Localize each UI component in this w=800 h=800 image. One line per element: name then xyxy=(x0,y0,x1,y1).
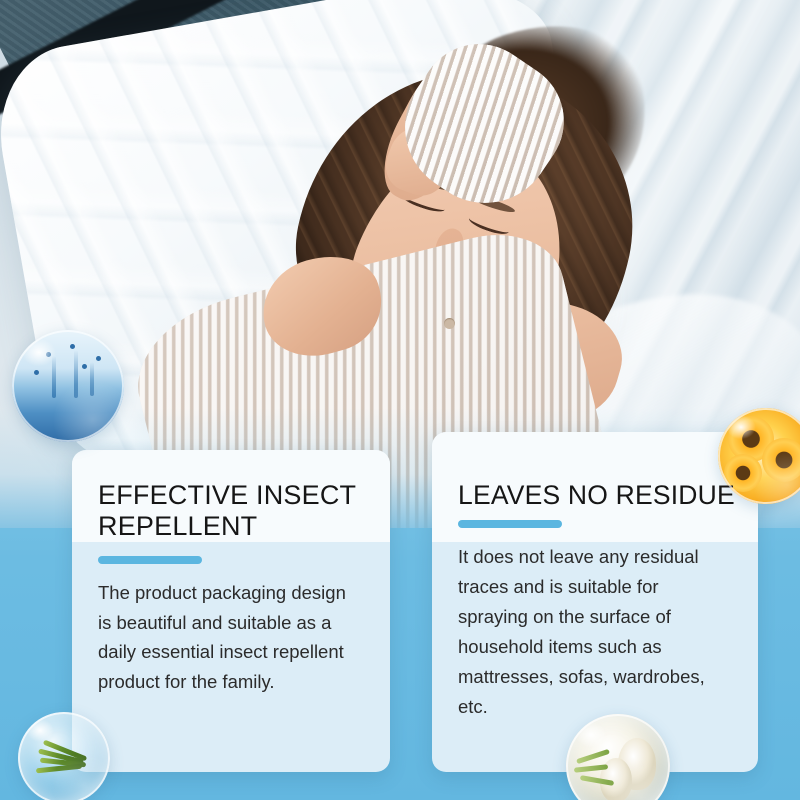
lemongrass-bubble xyxy=(18,712,110,800)
splash-droplet xyxy=(82,364,87,369)
splash-droplet xyxy=(96,356,101,361)
card-body-text: The product packaging design is beautifu… xyxy=(98,578,364,698)
card-title: LEAVES NO RESIDUE xyxy=(458,480,732,510)
flower-head xyxy=(762,438,800,482)
splash-droplet xyxy=(34,370,39,375)
feature-card-leaves-no-residue: LEAVES NO RESIDUE It does not leave any … xyxy=(432,432,758,772)
water-splash-bubble xyxy=(12,330,124,442)
title-divider xyxy=(458,520,562,528)
shirt-button xyxy=(444,318,455,329)
title-divider xyxy=(98,556,202,564)
product-feature-poster: EFFECTIVE INSECT REPELLENT The product p… xyxy=(0,0,800,800)
water-droplet-icon xyxy=(12,330,124,442)
splash-droplet xyxy=(46,352,51,357)
splash-column xyxy=(52,356,56,398)
splash-column xyxy=(90,362,94,396)
splash-column xyxy=(74,350,78,398)
card-title: EFFECTIVE INSECT REPELLENT xyxy=(98,480,364,542)
herb-leaf-icon xyxy=(576,749,610,764)
card-body-text: It does not leave any residual traces an… xyxy=(458,542,732,722)
splash-droplet xyxy=(70,344,75,349)
grass-leaf-icon xyxy=(36,764,82,774)
feature-card-effective-insect-repellent: EFFECTIVE INSECT REPELLENT The product p… xyxy=(72,450,390,772)
